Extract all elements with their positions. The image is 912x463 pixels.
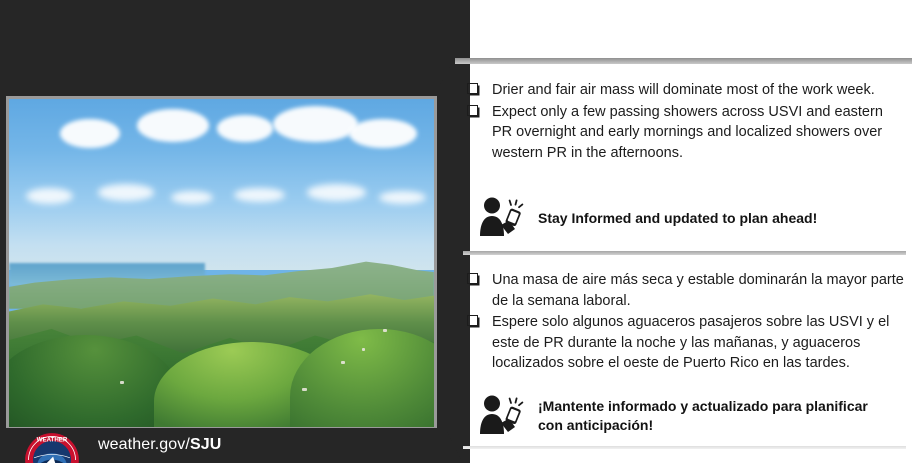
cloud-icon [349,119,417,149]
footer-url-office: SJU [190,436,221,453]
panel-top-border [455,58,912,64]
landscape-photo [6,96,437,430]
national-weather-service-logo: WEATHER [24,432,80,463]
infographic-root: Mostly fair weather conditions throughou… [0,0,912,463]
footer-url: weather.gov/SJU [98,436,221,454]
house-speck [341,361,345,364]
house-speck [383,329,387,332]
person-with-phone-icon [478,196,524,240]
footer-url-prefix: weather.gov/ [98,436,190,453]
cloud-icon [60,119,120,149]
checkbox-bullet-icon [467,83,478,94]
bullet-text: Espere solo algunos aguaceros pasajeros … [492,314,889,371]
checkbox-bullet-icon [467,315,478,326]
photo-image [9,99,434,427]
list-item: Drier and fair air mass will dominate mo… [459,80,904,101]
cloud-icon [273,106,358,142]
english-callout: Stay Informed and updated to plan ahead! [478,196,898,240]
callout-line-2: con anticipación! [538,417,653,433]
cloud-icon [217,115,272,141]
bullet-text: Drier and fair air mass will dominate mo… [492,82,875,98]
house-speck [120,381,124,384]
list-item: Espere solo algunos aguaceros pasajeros … [459,312,909,374]
cloud-icon [137,109,209,142]
cloud-icon [379,191,426,204]
callout-line-1: ¡Mantente informado y actualizado para p… [538,398,868,414]
spanish-bullets: Una masa de aire más seca y estable domi… [459,270,909,375]
cloud-icon [98,184,153,200]
cloud-icon [26,188,73,204]
bullet-text: Expect only a few passing showers across… [492,104,883,161]
svg-text:WEATHER: WEATHER [37,437,68,444]
callout-text: ¡Mantente informado y actualizado para p… [538,397,868,435]
callout-text: Stay Informed and updated to plan ahead! [538,209,817,228]
section-divider [463,251,906,255]
house-speck [362,348,365,351]
cloud-icon [307,184,367,200]
english-bullets: Drier and fair air mass will dominate mo… [459,80,904,164]
person-with-phone-icon [478,394,524,438]
house-speck [302,388,307,391]
checkbox-bullet-icon [467,105,478,116]
spanish-callout: ¡Mantente informado y actualizado para p… [478,394,908,438]
checkbox-bullet-icon [467,273,478,284]
list-item: Una masa de aire más seca y estable domi… [459,270,909,311]
bullet-text: Una masa de aire más seca y estable domi… [492,272,904,309]
bottom-divider [463,446,906,449]
cloud-icon [171,191,214,204]
list-item: Expect only a few passing showers across… [459,102,904,164]
